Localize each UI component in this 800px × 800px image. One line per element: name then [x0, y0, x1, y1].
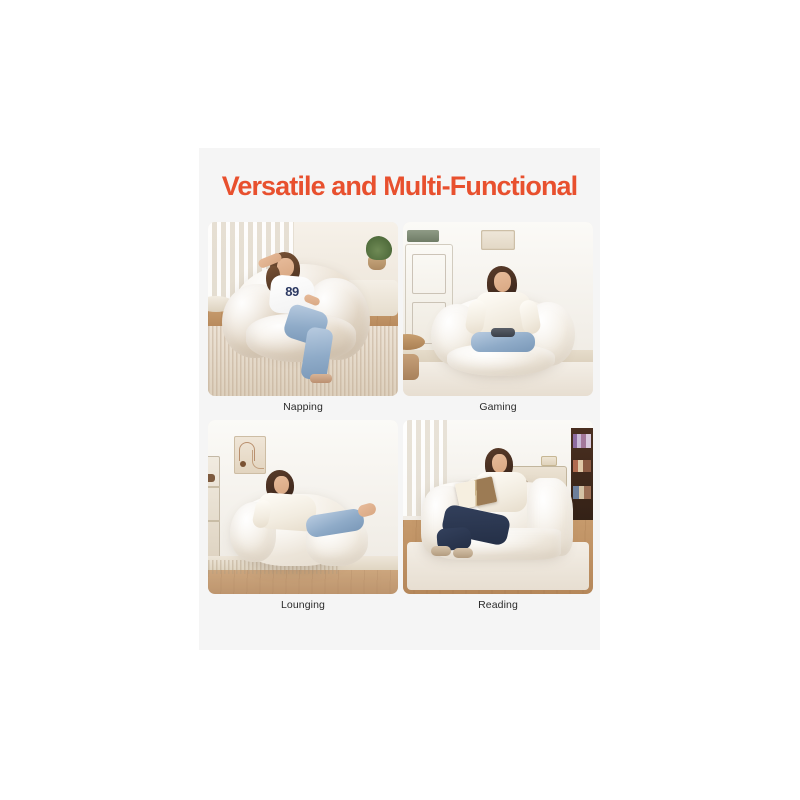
art-dot: [240, 461, 246, 467]
wood-stool: [403, 354, 419, 380]
shelf-divider-1: [208, 486, 220, 488]
framed-art: [481, 230, 515, 250]
person-face: [274, 476, 289, 494]
page-title: Versatile and Multi-Functional: [199, 171, 600, 202]
plant-leaves: [366, 236, 392, 260]
photo-gaming: [403, 222, 593, 396]
shelf-object: [208, 474, 215, 482]
shelf-divider-2: [208, 520, 220, 522]
books-row-2: [573, 460, 591, 472]
person-face: [492, 454, 507, 473]
panel-caption-reading: Reading: [403, 599, 593, 611]
jersey-number: 89: [281, 284, 303, 299]
promo-card: Versatile and Multi-Functional: [199, 148, 600, 650]
photo-lounging: [208, 420, 398, 594]
panel-lounging[interactable]: Lounging: [208, 420, 398, 611]
photo-napping: 89: [208, 222, 398, 396]
books-row-3: [573, 486, 591, 499]
panel-caption-lounging: Lounging: [208, 599, 398, 611]
person-shoe-left: [431, 546, 451, 556]
door-panel-top: [412, 254, 446, 294]
game-controller: [491, 328, 515, 337]
shelf-unit: [208, 456, 220, 562]
panel-caption-napping: Napping: [208, 401, 398, 413]
person-shoe-right: [453, 548, 473, 558]
art-curve: [252, 450, 264, 469]
person-face: [494, 272, 511, 292]
wall-shelf-object: [407, 230, 439, 242]
panel-grid: 89 Napping: [208, 222, 593, 611]
person-sandal: [310, 374, 332, 383]
panel-reading[interactable]: Reading: [403, 420, 593, 611]
cabinet-frame: [541, 456, 557, 466]
books-row-1: [573, 434, 591, 448]
photo-reading: [403, 420, 593, 594]
panel-napping[interactable]: 89 Napping: [208, 222, 398, 413]
panel-caption-gaming: Gaming: [403, 401, 593, 413]
panel-gaming[interactable]: Gaming: [403, 222, 593, 413]
